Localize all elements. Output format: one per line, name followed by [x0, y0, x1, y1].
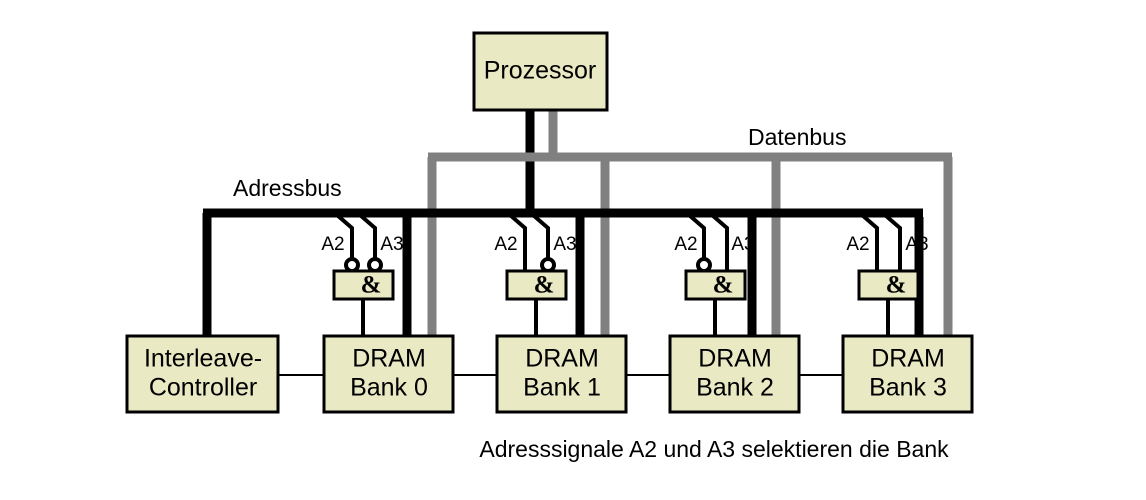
bank1-a3-label: A3	[553, 234, 576, 255]
bank0-a3-label: A3	[380, 234, 403, 255]
bank1-a2-label: A2	[494, 234, 517, 255]
bank2-a2-inverter-bubble	[698, 259, 710, 271]
dram-bank-3-block[interactable]: DRAM Bank 3	[843, 336, 972, 412]
bank2-a3-label: A3	[731, 234, 754, 255]
interleave-controller-block[interactable]: Interleave- Controller	[127, 336, 278, 412]
bank-1-decoder: A2 A3 &	[494, 215, 576, 340]
bank1-a3-tap	[533, 215, 548, 262]
dram-bank-1-label-line1: DRAM	[525, 345, 599, 373]
bank3-a2-label: A2	[846, 234, 869, 255]
dram-bank-3-label-line1: DRAM	[871, 345, 945, 373]
diagram-caption: Adresssignale A2 und A3 selektieren die …	[479, 436, 949, 462]
interleave-controller-label-line1: Interleave-	[144, 345, 262, 373]
dram-bank-1-block[interactable]: DRAM Bank 1	[497, 336, 626, 412]
dram-bank-1-label-line2: Bank 1	[523, 374, 601, 402]
bank0-a2-inverter-bubble	[346, 259, 358, 271]
bank1-a3-inverter-bubble	[542, 259, 554, 271]
dram-bank-2-label-line2: Bank 2	[696, 374, 774, 402]
dram-bank-2-block[interactable]: DRAM Bank 2	[670, 336, 799, 412]
bank0-a2-label: A2	[321, 234, 344, 255]
bank3-a3-label: A3	[905, 234, 928, 255]
bank-0-decoder: A2 A3 &	[321, 215, 403, 340]
diagram-canvas: A2 A3 & A2 A3 & A2 A3 &	[0, 0, 1146, 500]
bank3-gate-symbol: &	[886, 272, 907, 299]
dram-bank-0-block[interactable]: DRAM Bank 0	[324, 336, 453, 412]
interleaving-block-diagram: A2 A3 & A2 A3 & A2 A3 &	[0, 0, 1146, 500]
dram-bank-3-label-line2: Bank 3	[869, 374, 947, 402]
bank2-gate-symbol: &	[713, 272, 734, 299]
bank0-gate-symbol: &	[361, 272, 382, 299]
bank0-a3-inverter-bubble	[369, 259, 381, 271]
address-bus-label: Adressbus	[233, 175, 342, 201]
processor-block[interactable]: Prozessor	[474, 33, 607, 110]
bank2-a2-label: A2	[674, 234, 697, 255]
dram-bank-0-label-line2: Bank 0	[350, 374, 428, 402]
bank1-gate-symbol: &	[534, 272, 555, 299]
data-bus-label: Datenbus	[748, 124, 846, 150]
bank-2-decoder: A2 A3 &	[674, 215, 754, 340]
bank0-a3-tap	[360, 215, 375, 262]
processor-label: Prozessor	[484, 57, 597, 85]
interleave-controller-label-line2: Controller	[149, 374, 257, 402]
dram-bank-0-label-line1: DRAM	[352, 345, 426, 373]
dram-bank-2-label-line1: DRAM	[698, 345, 772, 373]
